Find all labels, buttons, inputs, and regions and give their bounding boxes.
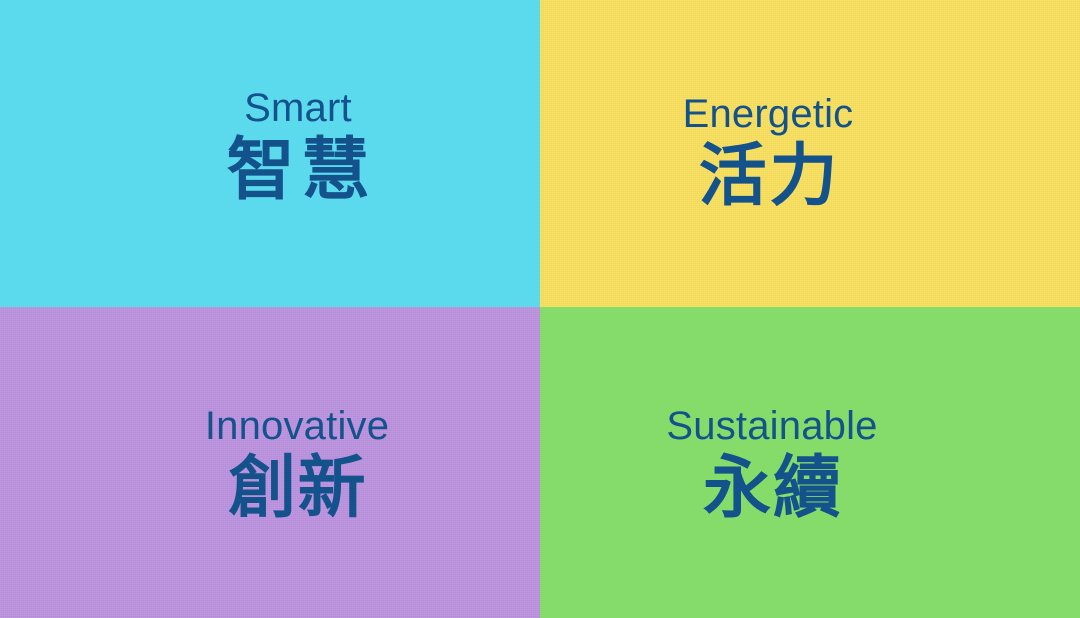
quadrant-sustainable-label-zh: 永續 xyxy=(666,453,877,524)
quadrant-smart-text: Smart 智慧 xyxy=(220,88,376,206)
quadrant-energetic-label-zh: 活力 xyxy=(683,141,854,212)
quadrant-smart-label-zh: 智慧 xyxy=(220,135,376,206)
quadrant-sustainable-label-en: Sustainable xyxy=(666,406,877,447)
quadrant-smart[interactable]: Smart 智慧 xyxy=(0,0,540,307)
quadrant-innovative-label-en: Innovative xyxy=(205,406,389,447)
quadrant-innovative[interactable]: Innovative 創新 xyxy=(0,307,540,618)
quadrant-smart-label-en: Smart xyxy=(220,88,376,129)
quadrant-energetic[interactable]: Energetic 活力 xyxy=(540,0,1080,307)
quadrant-innovative-label-zh: 創新 xyxy=(205,453,389,524)
quadrant-innovative-text: Innovative 創新 xyxy=(205,406,389,524)
brand-values-poster: Smart 智慧 Energetic 活力 Innovative 創新 Sust… xyxy=(0,0,1080,618)
quadrant-grid: Smart 智慧 Energetic 活力 Innovative 創新 Sust… xyxy=(0,0,1080,618)
quadrant-sustainable-text: Sustainable 永續 xyxy=(666,406,877,524)
quadrant-sustainable[interactable]: Sustainable 永續 xyxy=(540,307,1080,618)
quadrant-energetic-text: Energetic 活力 xyxy=(683,94,854,212)
quadrant-energetic-label-en: Energetic xyxy=(683,94,854,135)
